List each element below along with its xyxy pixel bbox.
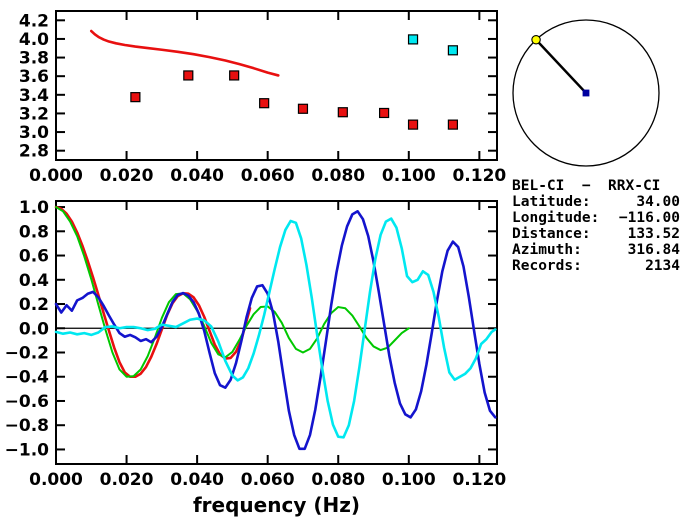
info-row-label: Records: (512, 258, 582, 274)
data-marker (409, 120, 418, 129)
info-row: Longitude:−116.00 (508, 210, 686, 226)
station-center-dot (583, 90, 590, 97)
info-row-label: Distance: (512, 226, 591, 242)
info-row: Records:2134 (508, 258, 686, 274)
y-tick-label: 0.8 (19, 222, 49, 242)
x-tick-label: 0.000 (29, 470, 83, 490)
data-marker (448, 120, 457, 129)
y-tick-label: −0.8 (5, 416, 49, 436)
x-tick-label: 0.020 (100, 470, 154, 490)
station-pair-title: BEL-CI − RRX-CI (508, 178, 686, 194)
x-tick-label: 0.080 (311, 470, 365, 490)
y-tick-label: 3.6 (19, 67, 49, 87)
y-tick-label: 0.6 (19, 247, 49, 267)
data-marker (298, 104, 307, 113)
y-tick-label: −0.4 (5, 368, 50, 388)
info-row-label: Azimuth: (512, 242, 582, 258)
info-row: Distance:133.52 (508, 226, 686, 242)
x-tick-label: 0.120 (452, 470, 506, 490)
lower-panel-chart: 0.0000.0200.0400.0600.0800.1000.120−1.0−… (0, 195, 512, 519)
info-panel: BEL-CI − RRX-CI Latitude:34.00Longitude:… (508, 178, 686, 274)
y-tick-label: 2.8 (19, 142, 49, 162)
y-tick-label: 3.4 (19, 86, 49, 106)
y-tick-label: 4.2 (19, 11, 49, 31)
y-tick-label: −1.0 (5, 440, 50, 460)
info-row-value: 2134 (645, 258, 680, 274)
y-tick-label: 3.2 (19, 104, 49, 124)
data-marker (448, 46, 457, 55)
x-tick-label: 0.000 (29, 166, 83, 186)
x-tick-label: 0.060 (241, 166, 295, 186)
data-marker (184, 71, 193, 80)
y-tick-label: 0.0 (19, 319, 49, 339)
azimuth-endpoint-dot (532, 36, 540, 44)
x-tick-label: 0.040 (170, 470, 224, 490)
x-axis-title: frequency (Hz) (193, 493, 360, 517)
data-marker (338, 108, 347, 117)
data-marker (230, 71, 239, 80)
data-marker (131, 93, 140, 102)
y-tick-label: 0.2 (19, 295, 49, 315)
info-rows: Latitude:34.00Longitude:−116.00Distance:… (508, 194, 686, 274)
info-row-value: −116.00 (619, 210, 680, 226)
info-row-label: Latitude: (512, 194, 591, 210)
x-tick-label: 0.120 (452, 166, 506, 186)
x-tick-label: 0.080 (311, 166, 365, 186)
y-tick-label: 0.4 (19, 271, 49, 291)
x-tick-label: 0.100 (382, 166, 436, 186)
series-synthetic-green (56, 207, 409, 377)
info-row-value: 316.84 (628, 242, 680, 258)
series-model-dispersion-curve (91, 31, 278, 75)
info-row: Azimuth:316.84 (508, 242, 686, 258)
azimuth-diagram (505, 8, 685, 183)
azimuth-radius-line (536, 40, 586, 93)
series-phase-velocity-measurements-cyan (409, 35, 458, 55)
x-tick-label: 0.100 (382, 470, 436, 490)
x-tick-label: 0.040 (170, 166, 224, 186)
series-observed-coherency-blue (56, 211, 495, 449)
info-row: Latitude:34.00 (508, 194, 686, 210)
y-tick-label: −0.6 (5, 392, 49, 412)
info-row-value: 34.00 (636, 194, 680, 210)
seismic-dispersion-figure: 0.0000.0200.0400.0600.0800.1000.1202.83.… (0, 0, 687, 519)
y-tick-label: 1.0 (19, 198, 49, 218)
y-tick-label: 3.8 (19, 49, 49, 69)
data-marker (409, 35, 418, 44)
y-tick-label: 3.0 (19, 123, 49, 143)
plot-frame (56, 11, 497, 160)
y-tick-label: 4.0 (19, 30, 49, 50)
data-marker (380, 108, 389, 117)
y-tick-label: −0.2 (5, 343, 49, 363)
info-row-value: 133.52 (628, 226, 680, 242)
x-tick-label: 0.060 (241, 470, 295, 490)
data-marker (260, 99, 269, 108)
series-phase-velocity-measurements-red (131, 71, 458, 129)
info-row-label: Longitude: (512, 210, 599, 226)
upper-panel-chart: 0.0000.0200.0400.0600.0800.1000.1202.83.… (0, 0, 512, 195)
x-tick-label: 0.020 (100, 166, 154, 186)
